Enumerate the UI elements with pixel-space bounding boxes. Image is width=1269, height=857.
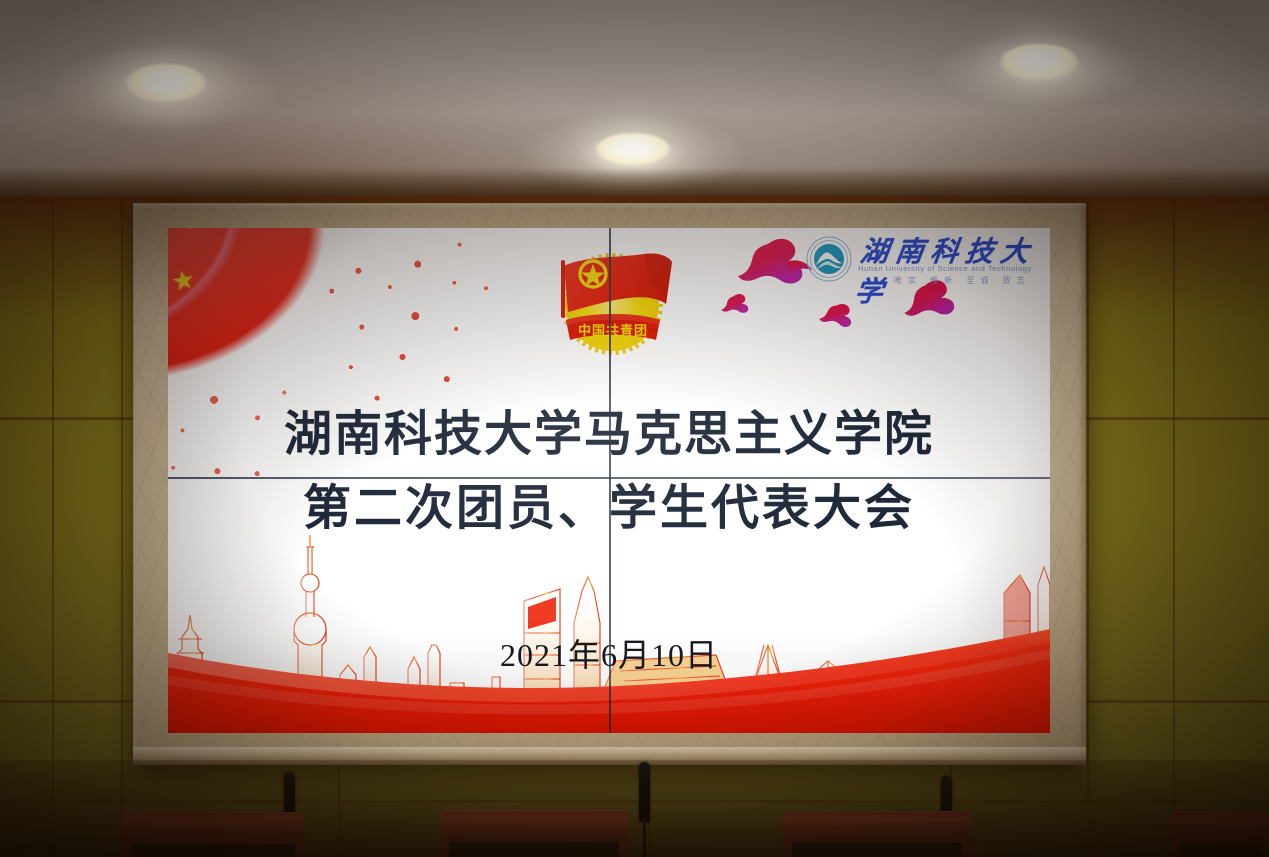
photo-scene: ★ ★ ★ ★ xyxy=(0,0,1269,857)
wall-vignette xyxy=(0,196,1269,857)
downlight-right-icon xyxy=(1000,44,1078,80)
downlight-left-icon xyxy=(126,64,206,102)
downlight-center-icon xyxy=(596,133,670,165)
